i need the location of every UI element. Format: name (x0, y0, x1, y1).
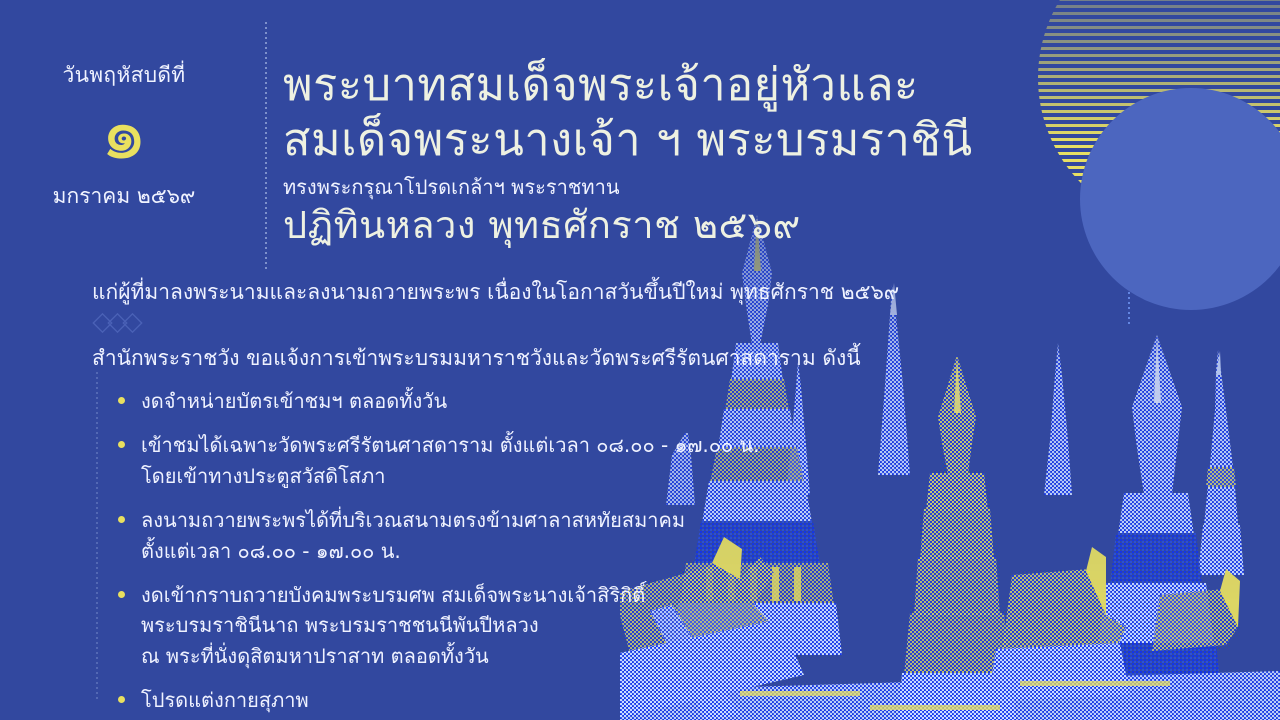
date-month-year: มกราคม ๒๕๖๙ (0, 183, 248, 210)
dotted-left-margin-rule (96, 372, 98, 702)
bullet-dot-icon (118, 441, 125, 448)
date-numeral: ๑ (0, 98, 248, 168)
bullet-dot-icon (118, 696, 125, 703)
bullet-dot-icon (118, 397, 125, 404)
dotted-accent-mark (1128, 292, 1130, 326)
bullet-text: งดจำหน่ายบัตรเข้าชมฯ ตลอดทั้งวัน (141, 386, 878, 416)
dotted-vertical-divider (265, 22, 267, 272)
body-paragraph-1: แก่ผู้ที่มาลงพระนามและลงนามถวายพระพร เนื… (92, 278, 899, 306)
bullet-text: เข้าชมได้เฉพาะวัดพระศรีรัตนศาสดาราม ตั้ง… (141, 430, 878, 491)
bullet-line: โดยเข้าทางประตูสวัสดิโสภา (141, 461, 878, 491)
bullet-dot-icon (118, 591, 125, 598)
bullet-item: งดจำหน่ายบัตรเข้าชมฯ ตลอดทั้งวัน (118, 386, 878, 416)
bullet-line: โปรดแต่งกายสุภาพ (141, 685, 878, 715)
bullet-line: ตั้งแต่เวลา ๐๘.๐๐ - ๑๗.๐๐ น. (141, 536, 878, 566)
bullet-dot-icon (118, 516, 125, 523)
headline-subtitle-large: ปฏิทินหลวง พุทธศักราช ๒๕๖๙ (283, 202, 1083, 250)
bullet-text: งดเข้ากราบถวายบังคมพระบรมศพ สมเด็จพระนาง… (141, 580, 878, 671)
soft-circle-icon (1080, 88, 1280, 310)
bullet-line: เข้าชมได้เฉพาะวัดพระศรีรัตนศาสดาราม ตั้ง… (141, 430, 878, 460)
bullet-text: โปรดแต่งกายสุภาพ (141, 685, 878, 715)
bullet-line: พระบรมราชินีนาถ พระบรมราชชนนีพันปีหลวง (141, 610, 878, 640)
date-block: วันพฤหัสบดีที่ ๑ มกราคม ๒๕๖๙ (0, 62, 248, 210)
headline-line-1: พระบาทสมเด็จพระเจ้าอยู่หัวและ (283, 58, 1083, 113)
body-paragraph-2: สำนักพระราชวัง ขอแจ้งการเข้าพระบรมมหาราช… (92, 344, 861, 372)
bullet-item: โปรดแต่งกายสุภาพ (118, 685, 878, 715)
bullet-line: งดเข้ากราบถวายบังคมพระบรมศพ สมเด็จพระนาง… (141, 580, 878, 610)
bullet-item: งดเข้ากราบถวายบังคมพระบรมศพ สมเด็จพระนาง… (118, 580, 878, 671)
bullet-text: ลงนามถวายพระพรได้ที่บริเวณสนามตรงข้ามศาล… (141, 505, 878, 566)
headline-block: พระบาทสมเด็จพระเจ้าอยู่หัวและ สมเด็จพระน… (283, 58, 1083, 249)
headline-subtitle-small: ทรงพระกรุณาโปรดเกล้าฯ พระราชทาน (283, 174, 1083, 200)
date-weekday: วันพฤหัสบดีที่ (0, 62, 248, 88)
headline-line-2: สมเด็จพระนางเจ้า ฯ พระบรมราชินี (283, 113, 1083, 168)
announcement-bullet-list: งดจำหน่ายบัตรเข้าชมฯ ตลอดทั้งวันเข้าชมได… (118, 386, 878, 720)
bullet-line: ณ พระที่นั่งดุสิตมหาปราสาท ตลอดทั้งวัน (141, 641, 878, 671)
triple-diamond-ornament-icon (92, 312, 162, 334)
bullet-item: เข้าชมได้เฉพาะวัดพระศรีรัตนศาสดาราม ตั้ง… (118, 430, 878, 491)
bullet-item: ลงนามถวายพระพรได้ที่บริเวณสนามตรงข้ามศาล… (118, 505, 878, 566)
bullet-line: งดจำหน่ายบัตรเข้าชมฯ ตลอดทั้งวัน (141, 386, 878, 416)
bullet-line: ลงนามถวายพระพรได้ที่บริเวณสนามตรงข้ามศาล… (141, 505, 878, 535)
